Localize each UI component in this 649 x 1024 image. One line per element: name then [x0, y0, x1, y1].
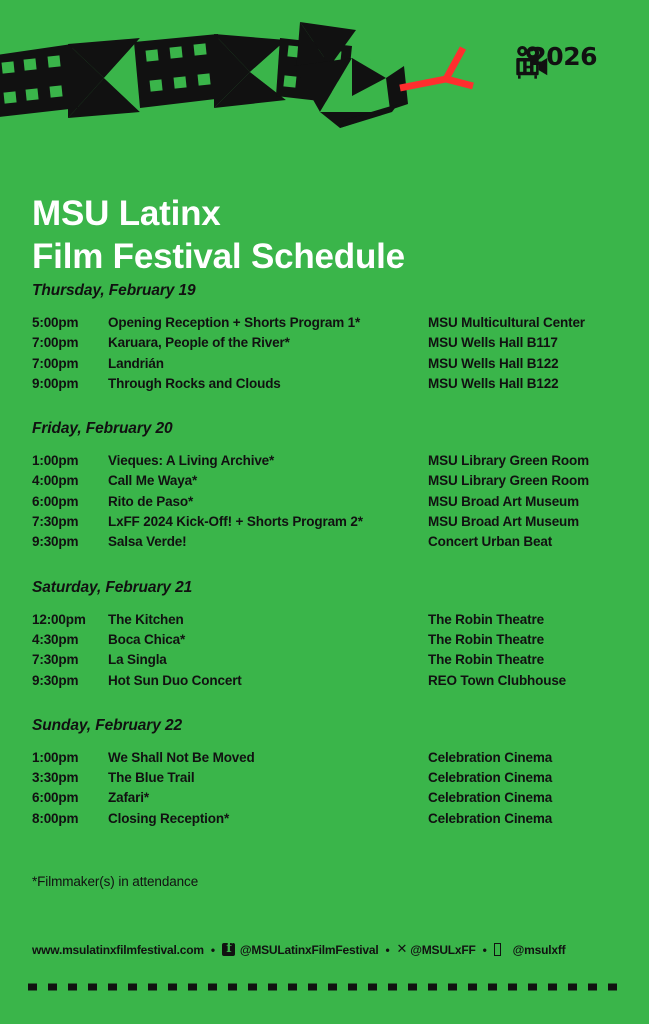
instagram-icon[interactable] [494, 943, 501, 956]
day-events: 1:00pmVieques: A Living Archive*MSU Libr… [32, 451, 622, 552]
schedule-row[interactable]: 7:30pmLxFF 2024 Kick-Off! + Shorts Progr… [32, 512, 622, 532]
event-title: Through Rocks and Clouds [108, 374, 428, 394]
dashed-bottom-rule [28, 983, 622, 991]
event-time: 6:00pm [32, 788, 108, 808]
event-title: Call Me Waya* [108, 471, 428, 491]
event-venue: REO Town Clubhouse [428, 671, 622, 691]
website-link[interactable]: www.msulatinxfilmfestival.com [32, 943, 204, 957]
day-heading: Thursday, February 19 [32, 282, 622, 300]
event-title: Rito de Paso* [108, 492, 428, 512]
day-events: 5:00pmOpening Reception + Shorts Program… [32, 313, 622, 394]
red-kite-tail [400, 48, 473, 88]
day-events: 12:00pmThe KitchenThe Robin Theatre4:30p… [32, 610, 622, 691]
film-strip-segment-1 [0, 44, 78, 118]
event-time: 6:00pm [32, 492, 108, 512]
event-time: 5:00pm [32, 313, 108, 333]
event-title: Opening Reception + Shorts Program 1* [108, 313, 428, 333]
event-venue: The Robin Theatre [428, 650, 622, 670]
event-venue: MSU Wells Hall B122 [428, 374, 622, 394]
event-time: 12:00pm [32, 610, 108, 630]
event-time: 7:00pm [32, 354, 108, 374]
event-title: We Shall Not Be Moved [108, 748, 428, 768]
film-strip-kite-artwork [0, 0, 649, 145]
x-twitter-handle[interactable]: @MSULxFF [410, 943, 475, 957]
schedule-row[interactable]: 7:30pmLa SinglaThe Robin Theatre [32, 650, 622, 670]
schedule-row[interactable]: 1:00pmVieques: A Living Archive*MSU Libr… [32, 451, 622, 471]
schedule-row[interactable]: 12:00pmThe KitchenThe Robin Theatre [32, 610, 622, 630]
event-title: Boca Chica* [108, 630, 428, 650]
schedule-row[interactable]: 4:00pmCall Me Waya*MSU Library Green Roo… [32, 471, 622, 491]
event-venue: MSU Broad Art Museum [428, 492, 622, 512]
footnote-filmmaker-attendance: *Filmmaker(s) in attendance [32, 874, 198, 889]
day-events: 1:00pmWe Shall Not Be MovedCelebration C… [32, 748, 622, 829]
day-heading: Sunday, February 22 [32, 717, 622, 735]
x-twitter-icon[interactable]: ✕ [397, 942, 408, 957]
event-time: 1:00pm [32, 748, 108, 768]
event-title: Vieques: A Living Archive* [108, 451, 428, 471]
event-venue: The Robin Theatre [428, 610, 622, 630]
event-title: The Kitchen [108, 610, 428, 630]
event-title: Karuara, People of the River* [108, 333, 428, 353]
event-venue: MSU Wells Hall B117 [428, 333, 622, 353]
event-venue: MSU Library Green Room [428, 471, 622, 491]
footer-separator-3: • [483, 944, 487, 956]
facebook-handle[interactable]: @MSULatinxFilmFestival [240, 943, 379, 957]
schedule-row[interactable]: 9:00pmThrough Rocks and CloudsMSU Wells … [32, 374, 622, 394]
event-time: 7:30pm [32, 650, 108, 670]
schedule-row[interactable]: 7:00pmKaruara, People of the River*MSU W… [32, 333, 622, 353]
event-time: 1:00pm [32, 451, 108, 471]
event-venue: Concert Urban Beat [428, 532, 622, 552]
event-title: Zafari* [108, 788, 428, 808]
event-title: Landrián [108, 354, 428, 374]
bowtie-shape-1 [68, 38, 140, 118]
schedule-row[interactable]: 1:00pmWe Shall Not Be MovedCelebration C… [32, 748, 622, 768]
event-time: 9:00pm [32, 374, 108, 394]
event-title: LxFF 2024 Kick-Off! + Shorts Program 2* [108, 512, 428, 532]
footer-separator-1: • [211, 944, 215, 956]
event-venue: Celebration Cinema [428, 809, 622, 829]
day-block: Friday, February 201:00pmVieques: A Livi… [32, 420, 622, 552]
page-title: MSU Latinx Film Festival Schedule [32, 193, 405, 278]
schedule-row[interactable]: 9:30pmHot Sun Duo ConcertREO Town Clubho… [32, 671, 622, 691]
day-heading: Saturday, February 21 [32, 579, 622, 597]
footer-separator-2: • [386, 944, 390, 956]
schedule-row[interactable]: 4:30pmBoca Chica*The Robin Theatre [32, 630, 622, 650]
event-time: 9:30pm [32, 532, 108, 552]
day-heading: Friday, February 20 [32, 420, 622, 438]
event-title: Hot Sun Duo Concert [108, 671, 428, 691]
event-time: 4:30pm [32, 630, 108, 650]
year-label: 2026 [529, 44, 597, 69]
event-venue: MSU Wells Hall B122 [428, 354, 622, 374]
festival-schedule-poster: 2026 MSU Latinx Film Festival Schedule T… [0, 0, 649, 1024]
facebook-icon[interactable] [222, 943, 235, 956]
event-time: 8:00pm [32, 809, 108, 829]
event-venue: MSU Multicultural Center [428, 313, 622, 333]
schedule-row[interactable]: 3:30pmThe Blue TrailCelebration Cinema [32, 768, 622, 788]
event-time: 7:00pm [32, 333, 108, 353]
day-block: Thursday, February 195:00pmOpening Recep… [32, 282, 622, 394]
event-venue: MSU Broad Art Museum [428, 512, 622, 532]
event-title: Salsa Verde! [108, 532, 428, 552]
event-time: 9:30pm [32, 671, 108, 691]
bowtie-shape-2 [214, 34, 286, 108]
event-time: 7:30pm [32, 512, 108, 532]
day-block: Saturday, February 2112:00pmThe KitchenT… [32, 579, 622, 691]
event-time: 4:00pm [32, 471, 108, 491]
schedule-row[interactable]: 7:00pmLandriánMSU Wells Hall B122 [32, 354, 622, 374]
schedule-row[interactable]: 5:00pmOpening Reception + Shorts Program… [32, 313, 622, 333]
schedule-row[interactable]: 6:00pmRito de Paso*MSU Broad Art Museum [32, 492, 622, 512]
film-strip-segment-2 [134, 34, 224, 108]
schedule-row[interactable]: 8:00pmClosing Reception*Celebration Cine… [32, 809, 622, 829]
schedule-row[interactable]: 6:00pmZafari*Celebration Cinema [32, 788, 622, 808]
event-venue: Celebration Cinema [428, 788, 622, 808]
event-title: La Singla [108, 650, 428, 670]
footer-contact-bar: www.msulatinxfilmfestival.com • @MSULati… [32, 942, 565, 957]
day-block: Sunday, February 221:00pmWe Shall Not Be… [32, 717, 622, 829]
festival-year-logo: 2026 [529, 44, 597, 69]
event-title: Closing Reception* [108, 809, 428, 829]
schedule-row[interactable]: 9:30pmSalsa Verde!Concert Urban Beat [32, 532, 622, 552]
event-venue: The Robin Theatre [428, 630, 622, 650]
schedule-list: Thursday, February 195:00pmOpening Recep… [32, 282, 622, 855]
kite-polygon-cluster [294, 22, 408, 128]
instagram-handle[interactable]: @msulxff [513, 943, 566, 957]
event-title: The Blue Trail [108, 768, 428, 788]
event-venue: MSU Library Green Room [428, 451, 622, 471]
event-venue: Celebration Cinema [428, 768, 622, 788]
event-time: 3:30pm [32, 768, 108, 788]
event-venue: Celebration Cinema [428, 748, 622, 768]
